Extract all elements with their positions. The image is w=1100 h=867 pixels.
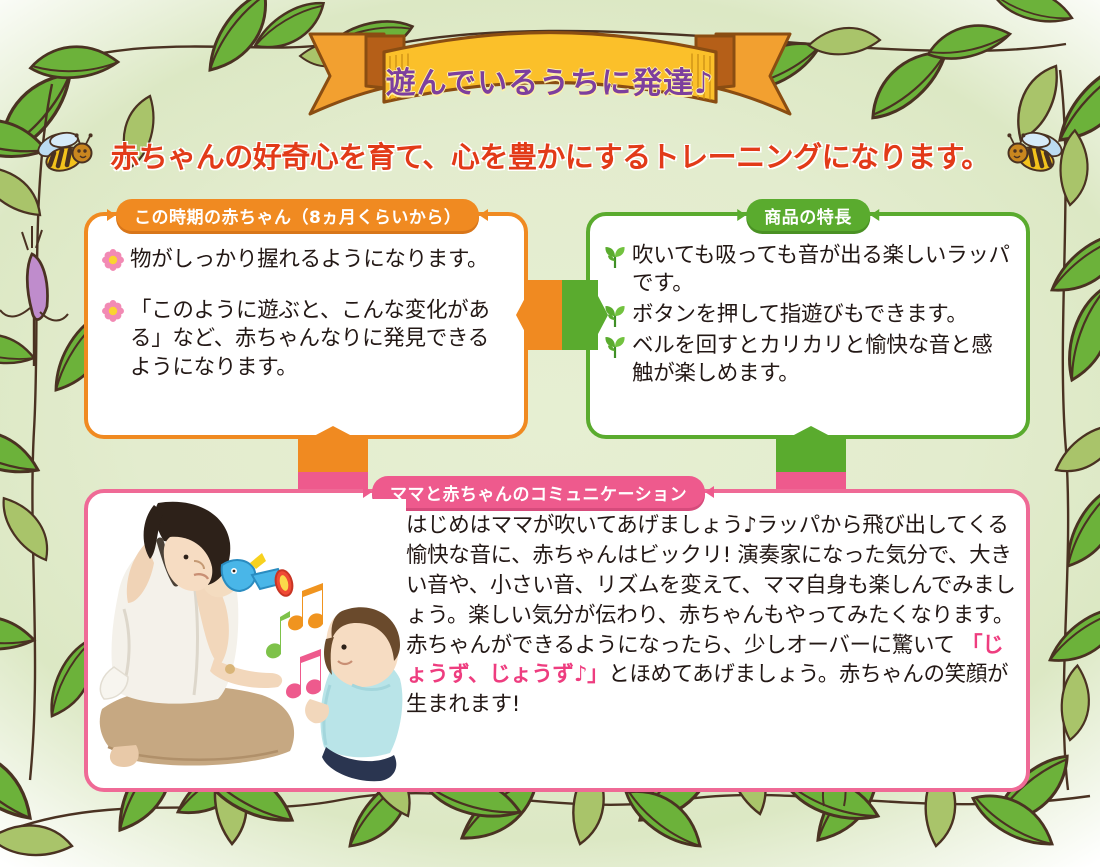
list-item-text: 「このように遊ぶと、こんな変化がある」など、赤ちゃんなりに発見できるようになりま…	[130, 297, 510, 382]
poster-root: 遊んでいるうちに発達♪ 赤ちゃんの好奇心を育て、心を豊かにするトレーニングになり…	[0, 0, 1100, 867]
card-baby-stage-title: この時期の赤ちゃん（8ヵ月くらいから）	[116, 199, 479, 231]
list-item: ベルを回すとカリカリと愉快な音と感触が楽しめます。	[604, 332, 1012, 389]
card-baby-stage-title-text: この時期の赤ちゃん（8ヵ月くらいから）	[134, 203, 461, 228]
thistle-icon	[0, 226, 68, 383]
pill-tail-left-icon	[107, 209, 116, 221]
list-item-text: ベルを回すとカリカリと愉快な音と感触が楽しめます。	[632, 332, 1012, 389]
card-communication: ママと赤ちゃんのコミュニケーション	[84, 489, 1030, 792]
list-item-text: ボタンを押して指遊びもできます。	[632, 301, 968, 329]
pill-tail-left-icon	[363, 486, 372, 498]
card-baby-stage-list: 物がしっかり握れるようになります。	[88, 246, 524, 396]
banner-ribbon: 遊んでいるうちに発達♪	[292, 28, 808, 124]
card-communication-title: ママと赤ちゃんのコミュニケーション	[372, 476, 705, 508]
page-headline: 赤ちゃんの好奇心を育て、心を豊かにするトレーニングになります。	[110, 134, 989, 176]
list-item-text: 物がしっかり握れるようになります。	[130, 246, 488, 274]
list-item: 物がしっかり握れるようになります。	[102, 246, 510, 275]
pill-tail-right-icon	[479, 209, 488, 221]
mother-baby-illustration	[94, 499, 406, 785]
bee-icon	[1004, 129, 1066, 181]
list-item-text: 吹いても吸っても音が出る楽しいラッパです。	[632, 242, 1012, 299]
card-product-features-list: 吹いても吸っても音が出る楽しいラッパです。 ボタンを押して指遊びもできます。	[590, 242, 1026, 391]
flower-bullet-icon	[102, 249, 124, 275]
mother-baby-photo	[94, 499, 406, 785]
card-communication-title-text: ママと赤ちゃんのコミュニケーション	[390, 480, 687, 505]
headline-row: 赤ちゃんの好奇心を育て、心を豊かにするトレーニングになります。	[0, 126, 1100, 184]
bidirectional-arrow-horizontal	[514, 276, 610, 358]
card-product-features-title-text: 商品の特長	[764, 203, 852, 228]
list-item: 吹いても吸っても音が出る楽しいラッパです。	[604, 242, 1012, 299]
pill-tail-left-icon	[737, 209, 746, 221]
banner-title: 遊んでいるうちに発達♪	[292, 32, 808, 128]
body-text-part1: はじめはママが吹いてあげましょう♪ラッパから飛び出してくる愉快な音に、赤ちゃんは…	[406, 513, 1015, 658]
communication-body-text: はじめはママが吹いてあげましょう♪ラッパから飛び出してくる愉快な音に、赤ちゃんは…	[406, 511, 1020, 720]
list-item: 「このように遊ぶと、こんな変化がある」など、赤ちゃんなりに発見できるようになりま…	[102, 297, 510, 382]
flower-bullet-icon	[102, 300, 124, 326]
card-product-features: 商品の特長 吹いても吸っても音が出る楽しいラッパです。	[586, 212, 1030, 439]
list-item: ボタンを押して指遊びもできます。	[604, 301, 1012, 330]
pill-tail-right-icon	[705, 486, 714, 498]
leaf-bullet-icon	[604, 245, 626, 271]
bee-icon	[34, 129, 96, 181]
pill-tail-right-icon	[870, 209, 879, 221]
card-baby-stage: この時期の赤ちゃん（8ヵ月くらいから）	[84, 212, 528, 439]
card-product-features-title: 商品の特長	[746, 199, 870, 231]
